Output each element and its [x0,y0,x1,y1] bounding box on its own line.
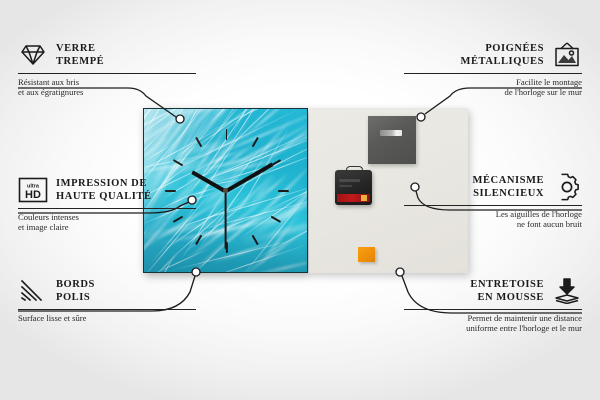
feature-bords-polis: BORDS POLIS Surface lisse et sûre [18,276,196,323]
feature-divider [404,309,582,310]
feature-title: ENTRETOISE EN MOUSSE [470,278,544,304]
svg-text:HD: HD [25,189,41,201]
wall-mount-frame-icon [552,40,582,70]
feature-header: ENTRETOISE EN MOUSSE [404,276,582,306]
clock-hour-marker [195,136,202,146]
clock-second-hand [225,191,227,249]
feature-mecanisme-silencieux: MÉCANISME SILENCIEUX Les aiguilles de l'… [404,172,582,230]
clock-hour-marker [277,190,288,192]
feature-title: MÉCANISME SILENCIEUX [473,174,544,200]
clock-hour-marker [226,129,228,140]
battery-terminal [361,195,367,201]
feature-description: Permet de maintenir une distance uniform… [404,313,582,334]
clock-minute-hand [225,162,274,192]
ultra-hd-icon: ultra HD [18,175,48,205]
feature-divider [404,205,582,206]
clock-hour-marker [172,159,182,166]
feature-header: POIGNÉES MÉTALLIQUES [404,40,582,70]
feature-title: BORDS POLIS [56,278,95,304]
polished-edges-icon [18,276,48,306]
feature-impression-hd: ultra HD IMPRESSION DE HAUTE QUALITÉ Cou… [18,175,196,233]
metal-hanger-plate [368,116,416,164]
arrow-down-pad-icon [552,276,582,306]
feature-header: VERRE TREMPÉ [18,40,196,70]
feature-header: BORDS POLIS [18,276,196,306]
gear-icon [552,172,582,202]
feature-description: Surface lisse et sûre [18,313,196,323]
feature-description: Résistant aux bris et aux égratignures [18,77,196,98]
feature-verre-trempe: VERRE TREMPÉ Résistant aux bris et aux é… [18,40,196,98]
clock-hour-marker [270,215,280,222]
feature-description: Les aiguilles de l'horloge ne font aucun… [404,209,582,230]
hanger-keyhole [380,130,402,136]
feature-divider [18,309,196,310]
quartz-movement [335,170,372,205]
feature-divider [404,73,582,74]
feature-title: IMPRESSION DE HAUTE QUALITÉ [56,177,152,203]
feature-title: POIGNÉES MÉTALLIQUES [461,42,544,68]
clock-hour-marker [226,242,228,253]
feature-poignees-metalliques: POIGNÉES MÉTALLIQUES Facilite le montage… [404,40,582,98]
clock-hour-marker [251,136,258,146]
clock-hour-marker [195,234,202,244]
feature-divider [18,73,196,74]
feature-entretoise-en-mousse: ENTRETOISE EN MOUSSE Permet de maintenir… [404,276,582,334]
feature-description: Couleurs intenses et image claire [18,212,196,233]
foam-spacer [358,247,375,262]
clock-hour-marker [251,234,258,244]
clock-hour-hand [192,170,227,193]
feature-header: ultra HD IMPRESSION DE HAUTE QUALITÉ [18,175,196,205]
movement-detail [339,179,360,182]
battery [337,194,370,202]
feature-description: Facilite le montage de l'horloge sur le … [404,77,582,98]
movement-hanger-loop [346,166,363,174]
feature-header: MÉCANISME SILENCIEUX [404,172,582,202]
feature-divider [18,208,196,209]
product-infographic: VERRE TREMPÉ Résistant aux bris et aux é… [0,0,600,400]
feature-title: VERRE TREMPÉ [56,42,104,68]
diamond-icon [18,40,48,70]
clock-center-cap [223,188,228,193]
movement-detail [339,185,352,187]
